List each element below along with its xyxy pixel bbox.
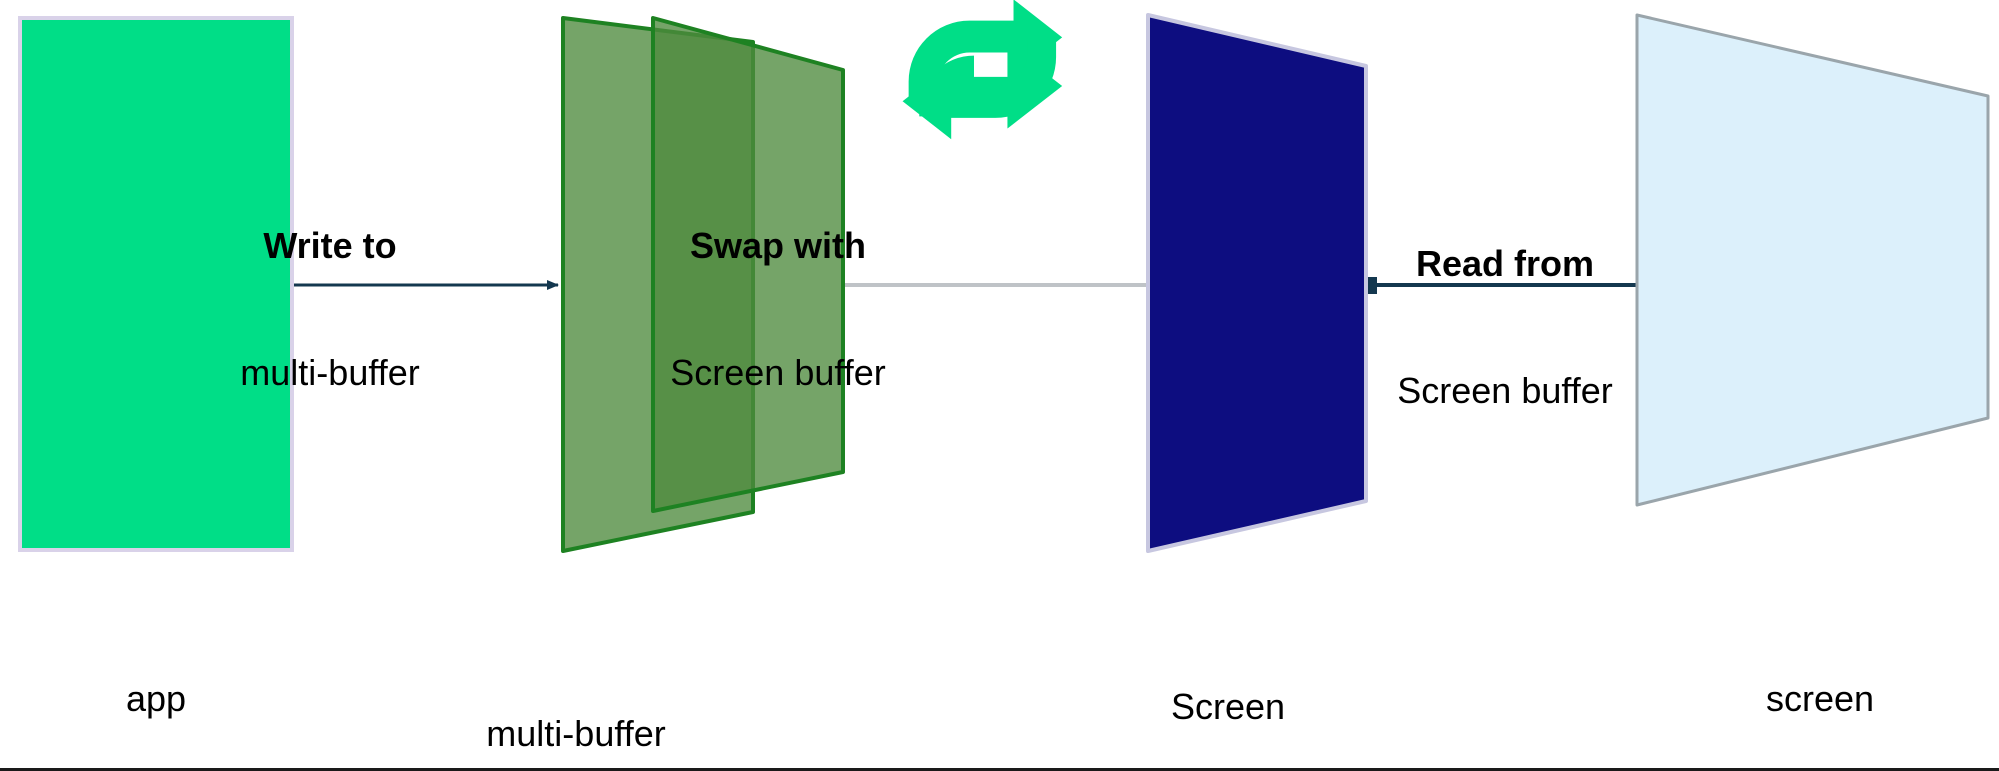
- edge-label-write-to-bold: Write to: [210, 225, 450, 267]
- edge-label-swap-with-plain: Screen buffer: [658, 352, 898, 394]
- node-screen-buffer-shape[interactable]: [1148, 15, 1366, 551]
- node-label-screen: screen: [1700, 593, 1940, 771]
- node-screen[interactable]: [1637, 15, 1988, 505]
- node-label-app: app: [36, 593, 276, 771]
- edge-label-swap-with-bold: Swap with: [658, 225, 898, 267]
- edge-label-read-from: Read from Screen buffer: [1385, 158, 1625, 498]
- swap-loop-icon: [903, 0, 1063, 139]
- node-label-screen-buffer: Screen buffer (memory): [1138, 601, 1318, 771]
- node-label-multi-buffer-line1: multi-buffer: [456, 713, 696, 755]
- edge-label-swap-with: Swap with Screen buffer: [658, 140, 898, 480]
- node-screen-buffer[interactable]: [1148, 15, 1366, 551]
- edge-label-read-from-bold: Read from: [1385, 243, 1625, 285]
- edge-label-write-to: Write to multi-buffer: [210, 140, 450, 480]
- node-screen-shape[interactable]: [1637, 15, 1988, 505]
- node-label-screen-line1: screen: [1700, 678, 1940, 720]
- node-label-multi-buffer: multi-buffer (memory): [456, 628, 696, 771]
- node-label-screen-buffer-line1: Screen: [1138, 686, 1318, 728]
- edge-label-write-to-plain: multi-buffer: [210, 352, 450, 394]
- node-label-app-line1: app: [36, 678, 276, 720]
- edge-label-read-from-plain: Screen buffer: [1385, 370, 1625, 412]
- diagram-canvas: Write to multi-buffer Swap with Screen b…: [0, 0, 1999, 771]
